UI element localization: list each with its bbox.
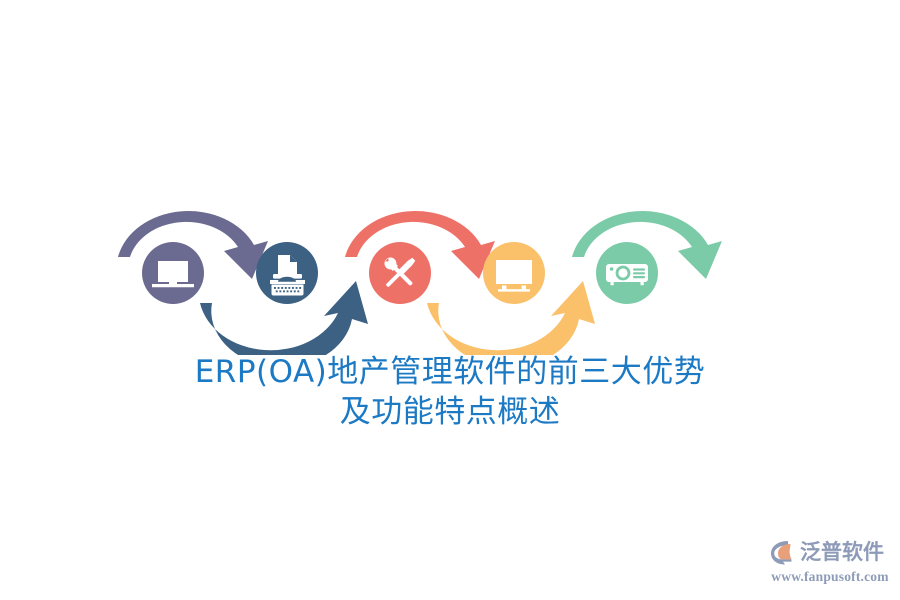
watermark-row: 泛普软件	[768, 536, 892, 568]
slide-canvas: ERP(OA)地产管理软件的前三大优势 及功能特点概述 泛普软件 www.fan…	[0, 0, 900, 600]
title-line-2: 及功能特点概述	[0, 392, 900, 432]
watermark-url: www.fanpusoft.com	[768, 569, 892, 585]
title-line-1: ERP(OA)地产管理软件的前三大优势	[0, 352, 900, 392]
process-step-1[interactable]	[142, 242, 204, 304]
process-step-5[interactable]	[596, 242, 658, 304]
process-step-3[interactable]	[369, 242, 431, 304]
fanpusoft-logo-icon	[768, 537, 798, 567]
process-step-2[interactable]	[256, 242, 318, 304]
process-flow-diagram	[90, 185, 730, 355]
watermark-brand-name: 泛普软件	[800, 537, 884, 567]
slide-title: ERP(OA)地产管理软件的前三大优势 及功能特点概述	[0, 352, 900, 432]
process-step-4[interactable]	[483, 242, 545, 304]
brand-watermark: 泛普软件 www.fanpusoft.com	[768, 536, 892, 588]
